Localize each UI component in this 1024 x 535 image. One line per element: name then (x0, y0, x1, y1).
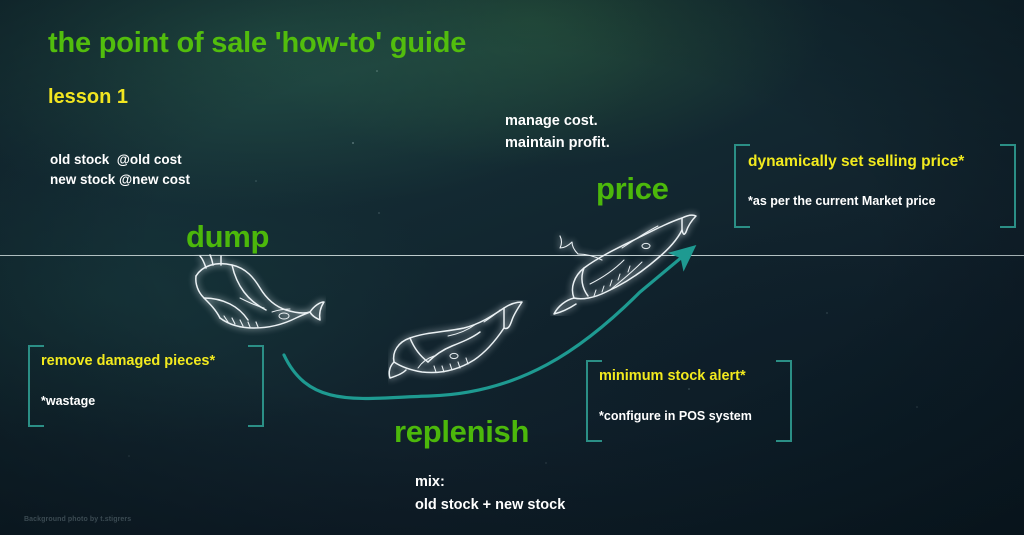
stage-label-replenish: replenish (394, 414, 529, 450)
bracket-right-icon (248, 345, 264, 427)
callout-footnote: *as per the current Market price (748, 194, 936, 208)
callout-footnote: *wastage (41, 394, 95, 408)
callout-headline: remove damaged pieces* (41, 353, 215, 369)
growth-curve-arrow (0, 0, 1024, 535)
callout-selling-price: dynamically set selling price* *as per t… (734, 144, 1016, 224)
slide-canvas: the point of sale 'how-to' guide lesson … (0, 0, 1024, 535)
manage-cost-note: manage cost. maintain profit. (505, 110, 610, 154)
callout-remove-damaged: remove damaged pieces* *wastage (28, 345, 264, 423)
whale-rising-price (550, 206, 700, 316)
callout-headline: minimum stock alert* (599, 368, 746, 384)
lesson-label: lesson 1 (48, 86, 128, 109)
stage-label-dump: dump (186, 219, 269, 255)
whale-bottom-replenish (388, 300, 528, 392)
stage-label-price: price (596, 171, 669, 207)
stock-cost-note: old stock @old cost new stock @new cost (50, 150, 190, 190)
bracket-right-icon (1000, 144, 1016, 228)
callout-headline: dynamically set selling price* (748, 153, 964, 171)
photo-credit: Background photo by t.stigrers (24, 516, 131, 523)
page-title: the point of sale 'how-to' guide (48, 27, 466, 60)
callout-footnote: *configure in POS system (599, 409, 752, 423)
bracket-right-icon (776, 360, 792, 442)
mix-note: mix: old stock + new stock (415, 471, 565, 517)
whale-diving-dump (186, 254, 326, 354)
callout-minimum-stock: minimum stock alert* *configure in POS s… (586, 360, 792, 438)
